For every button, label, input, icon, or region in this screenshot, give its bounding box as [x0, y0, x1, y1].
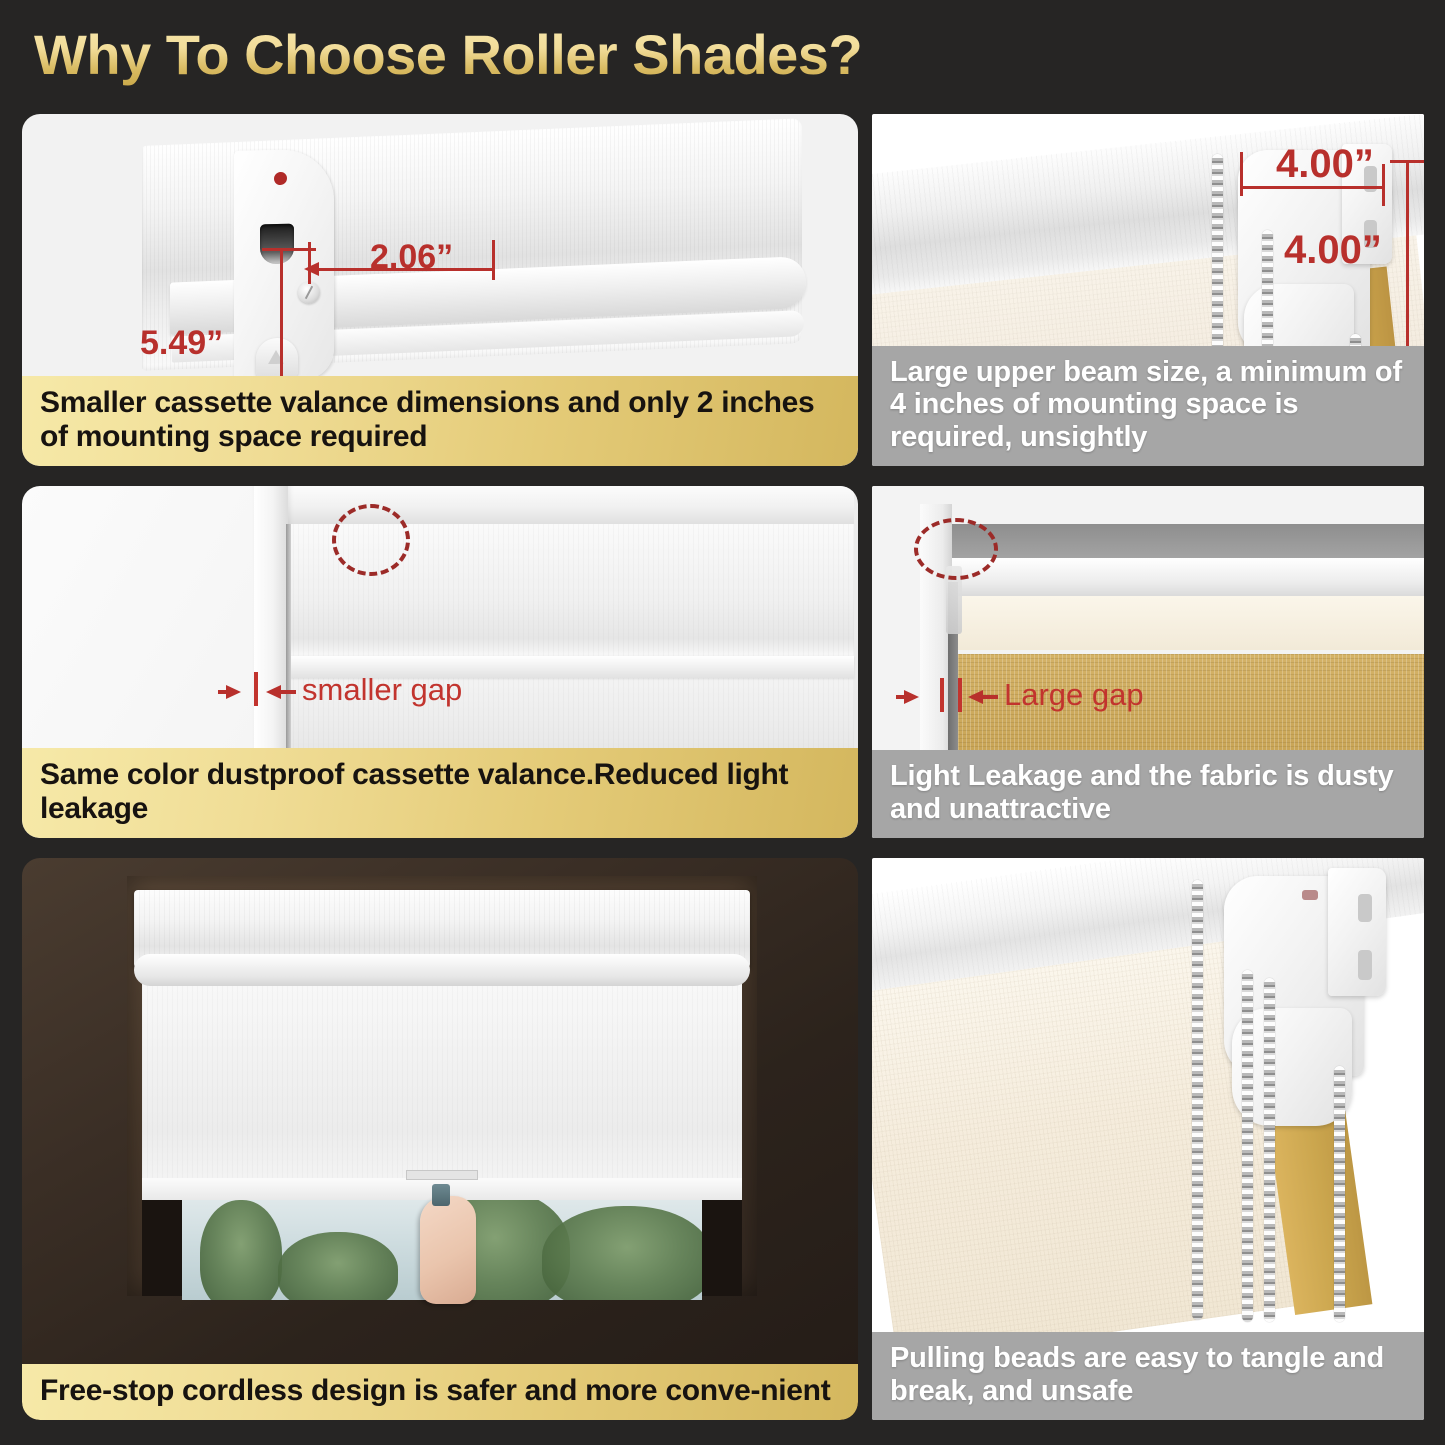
bead-chain-2 — [1242, 970, 1253, 1322]
beam-height-tick-top — [1390, 160, 1424, 163]
cream-fabric-band — [950, 596, 1424, 650]
panel-large-beam: 4.00” 4.00” Large upper beam size, a min… — [872, 114, 1424, 466]
tree-right-b — [542, 1206, 702, 1300]
panel-caption-cordless: Free-stop cordless design is safer and m… — [22, 1364, 858, 1420]
valance-screw — [298, 281, 320, 303]
gap-highlight-ellipse — [332, 504, 410, 576]
beam-height-dimension-label: 4.00” — [1284, 228, 1382, 273]
gap-arrow-right-stem — [280, 690, 296, 694]
shade-fabric — [142, 984, 742, 1189]
panel-caption-large-gap: Light Leakage and the fabric is dusty an… — [872, 750, 1424, 838]
bead-chain-1 — [1192, 880, 1203, 1320]
bracket-mount-plate — [1328, 868, 1386, 996]
gap-arrow-left-stem — [218, 690, 232, 694]
panel-cordless-design: Free-stop cordless design is safer and m… — [22, 858, 858, 1420]
bracket-slot-b — [1358, 950, 1372, 980]
gap-arrow-left-stem — [896, 695, 910, 699]
beam-tube — [950, 558, 1424, 598]
beam-width-dimension-label: 4.00” — [1276, 142, 1374, 187]
page-title: Why To Choose Roller Shades? — [34, 22, 862, 87]
bracket-slot-a — [1358, 894, 1372, 922]
page-header: Why To Choose Roller Shades? — [0, 0, 1445, 108]
gap-highlight-ellipse — [914, 518, 998, 580]
gap-label-smaller: smaller gap — [302, 672, 462, 708]
gap-arrow-right — [266, 685, 281, 699]
panel-caption-cassette: Smaller cassette valance dimensions and … — [22, 376, 858, 466]
bracket-indicator-dot — [1302, 890, 1318, 900]
panel-caption-pulling-beads: Pulling beads are easy to tangle and bre… — [872, 1332, 1424, 1420]
window-side-jamb — [254, 486, 288, 776]
beam-width-tick-right — [1382, 164, 1385, 206]
hand-pulling-shade — [420, 1196, 476, 1304]
bead-chain-3 — [1264, 978, 1275, 1322]
tree-mid — [278, 1232, 398, 1300]
gap-arrow-right — [968, 690, 983, 704]
height-dimension-label: 5.49” — [140, 324, 223, 363]
valance-knob — [256, 338, 298, 379]
gap-marker-bar-2 — [958, 678, 962, 712]
cassette-valance-illustration — [142, 118, 802, 371]
gap-arrow-right-stem — [982, 695, 998, 699]
shade-pull-handle — [432, 1184, 450, 1206]
panel-large-gap: Large gap Light Leakage and the fabric i… — [872, 486, 1424, 838]
width-dimension-arrow-left — [304, 262, 319, 276]
cordless-room-photo — [22, 858, 858, 1420]
cassette-valance-rail — [134, 954, 750, 986]
beam-height-dimension-line — [1406, 160, 1409, 350]
panel-caption-smaller-gap: Same color dustproof cassette valance.Re… — [22, 748, 858, 838]
beam-width-tick-left — [1240, 152, 1243, 196]
width-dimension-label: 2.06” — [370, 238, 453, 277]
panel-smaller-gap: smaller gap Same color dustproof cassett… — [22, 486, 858, 838]
shade-brand-tag — [406, 1170, 478, 1180]
panel-cassette-dimensions: 2.06” 5.49” Smaller cassette valance dim… — [22, 114, 858, 466]
shade-left-edge — [286, 524, 291, 774]
gap-marker-bar — [940, 678, 944, 712]
height-dimension-tick-top — [262, 248, 316, 251]
bead-chain-4 — [1334, 1066, 1345, 1322]
panel-pulling-beads: Pulling beads are easy to tangle and bre… — [872, 858, 1424, 1420]
width-dimension-tick-right — [492, 240, 495, 280]
valance-slot — [260, 224, 294, 265]
tree-left — [200, 1200, 282, 1300]
gap-label-large: Large gap — [1004, 677, 1144, 713]
gap-marker-bar — [254, 672, 258, 706]
panel-caption-large-beam: Large upper beam size, a minimum of 4 in… — [872, 346, 1424, 466]
